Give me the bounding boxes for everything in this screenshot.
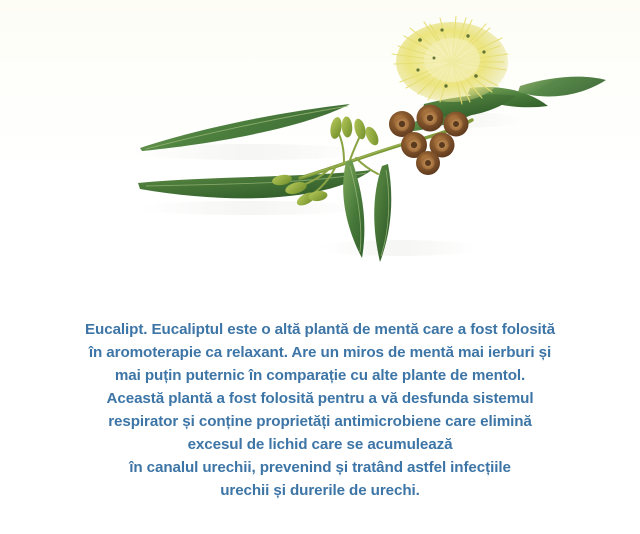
gumnut-3 bbox=[444, 112, 469, 137]
caption-line-4: Această plantă a fost folosită pentru a … bbox=[0, 387, 640, 410]
eucalyptus-illustration bbox=[0, 0, 640, 300]
gumnut-2 bbox=[417, 105, 444, 132]
eucalyptus-blossom bbox=[392, 16, 508, 104]
leaf-far-right bbox=[518, 77, 606, 97]
gumnut-cluster bbox=[389, 105, 469, 176]
caption-line-6: excesul de lichid care se acumulează bbox=[0, 433, 640, 456]
caption-line-5: respirator și conține proprietăți antimi… bbox=[0, 410, 640, 433]
caption-line-7: în canalul urechii, prevenind și tratând… bbox=[0, 456, 640, 479]
caption-line-3: mai puțin puternic în comparație cu alte… bbox=[0, 364, 640, 387]
caption-line-1: Eucalipt. Eucaliptul este o altă plantă … bbox=[0, 318, 640, 341]
caption-block: Eucalipt. Eucaliptul este o altă plantă … bbox=[0, 300, 640, 534]
caption-line-2: în aromoterapie ca relaxant. Are un miro… bbox=[0, 341, 640, 364]
blossom-core bbox=[424, 38, 480, 82]
caption-line-8: urechii și durerile de urechi. bbox=[0, 479, 640, 502]
eucalyptus-branch-photo bbox=[0, 0, 640, 300]
leaf-lower-left bbox=[138, 170, 372, 198]
gumnut-6 bbox=[416, 151, 440, 175]
page-root: Eucalipt. Eucaliptul este o altă plantă … bbox=[0, 0, 640, 534]
